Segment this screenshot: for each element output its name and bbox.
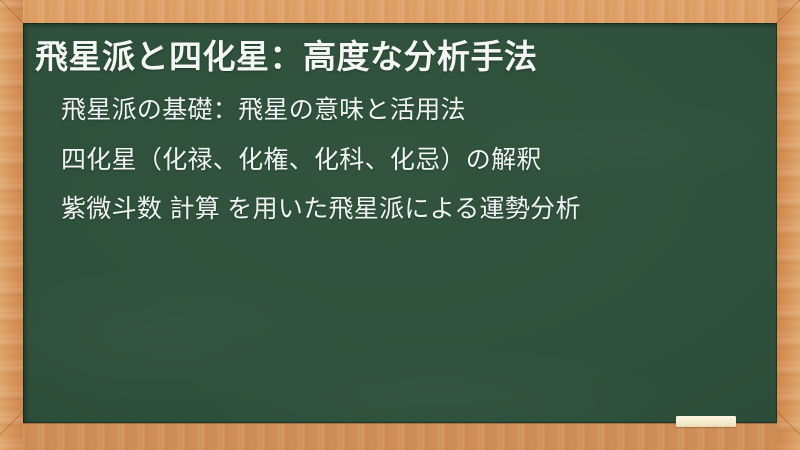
chalkboard-slide: 飛星派と四化星：高度な分析手法 飛星派の基礎：飛星の意味と活用法 四化星（化禄、… — [0, 0, 800, 450]
frame-right-stile — [777, 0, 800, 450]
frame-left-stile — [0, 0, 23, 450]
bullet-item: 飛星派の基礎：飛星の意味と活用法 — [61, 94, 751, 127]
chalkboard-surface: 飛星派と四化星：高度な分析手法 飛星派の基礎：飛星の意味と活用法 四化星（化禄、… — [23, 23, 777, 423]
slide-title: 飛星派と四化星：高度な分析手法 — [35, 36, 751, 78]
slide-content: 飛星派と四化星：高度な分析手法 飛星派の基礎：飛星の意味と活用法 四化星（化禄、… — [23, 23, 777, 423]
bullet-item: 紫微斗数 計算 を用いた飛星派による運勢分析 — [61, 193, 751, 226]
slide-bullet-list: 飛星派の基礎：飛星の意味と活用法 四化星（化禄、化権、化科、化忌）の解釈 紫微斗… — [35, 94, 751, 226]
bullet-item: 四化星（化禄、化権、化科、化忌）の解釈 — [61, 144, 751, 177]
chalk-stick — [676, 416, 736, 427]
